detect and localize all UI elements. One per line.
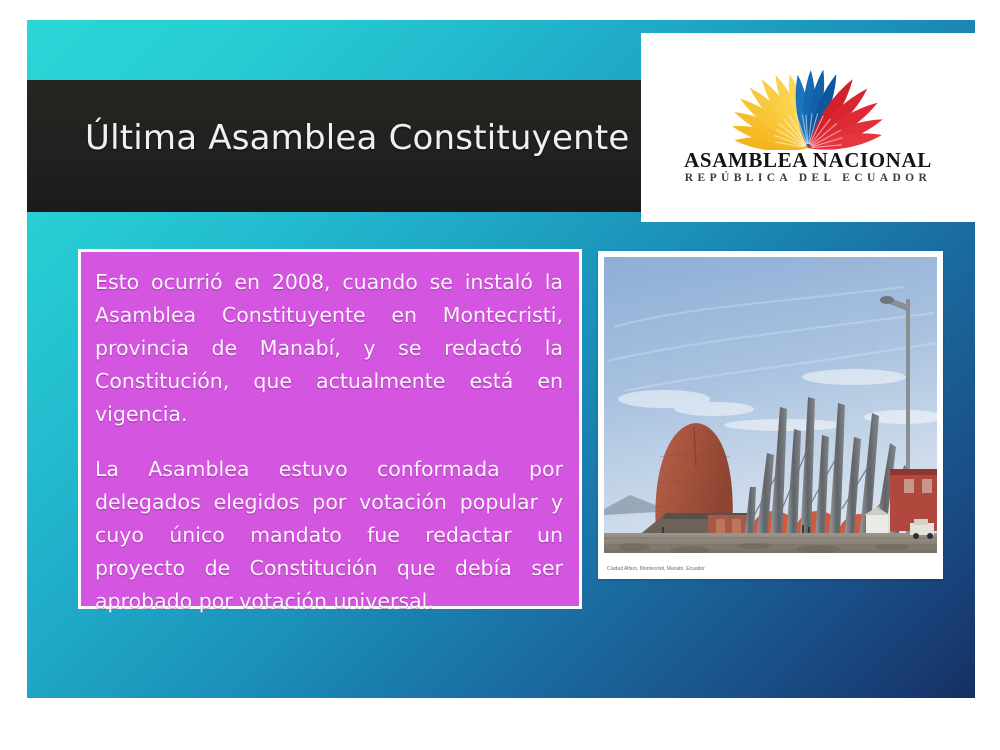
monument-photo-artwork xyxy=(604,257,937,553)
logo-fan-icon xyxy=(658,64,958,150)
body-text-card: Esto ocurrió en 2008, cuando se instaló … xyxy=(78,249,582,609)
body-paragraph-2: La Asamblea estuvo conformada por delega… xyxy=(95,453,563,618)
photo-caption: Ciudad Alfaro, Montecristi, Manabí, Ecua… xyxy=(607,565,907,573)
slide-title: Última Asamblea Constituyente xyxy=(85,118,655,158)
logo-panel: ASAMBLEA NACIONAL REPÚBLICA DEL ECUADOR xyxy=(641,33,975,222)
photo-frame: Ciudad Alfaro, Montecristi, Manabí, Ecua… xyxy=(598,251,943,579)
monument-photo xyxy=(604,257,937,553)
asamblea-nacional-logo: ASAMBLEA NACIONAL REPÚBLICA DEL ECUADOR xyxy=(658,64,958,192)
logo-subtitle-text: REPÚBLICA DEL ECUADOR xyxy=(658,172,958,184)
body-paragraph-1: Esto ocurrió en 2008, cuando se instaló … xyxy=(95,266,563,431)
logo-name-text: ASAMBLEA NACIONAL xyxy=(658,148,958,173)
slide-root: Última Asamblea Constituyente ASAMBLEA N… xyxy=(0,0,1000,750)
